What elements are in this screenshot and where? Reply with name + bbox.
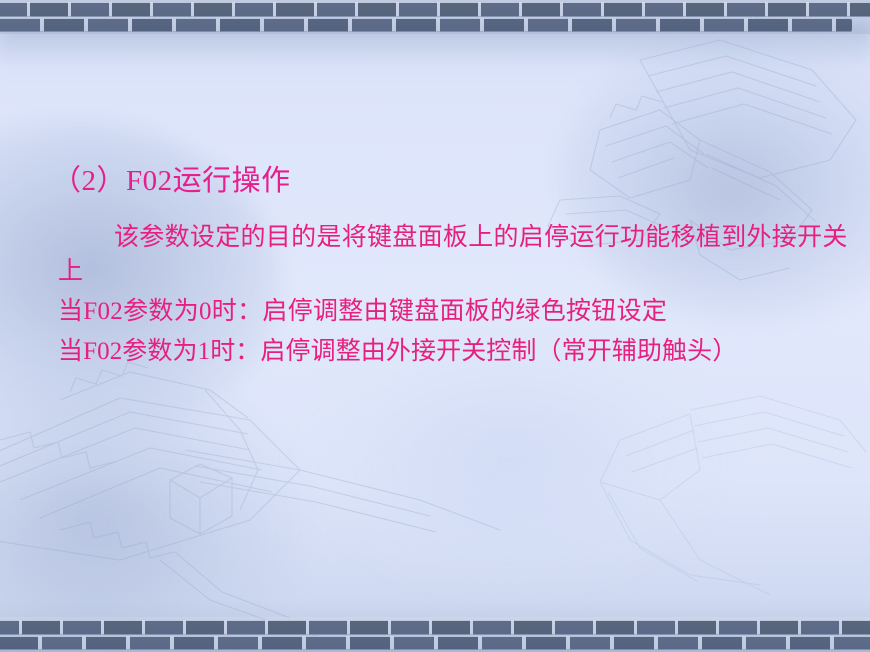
- presentation-slide: （2）F02运行操作 该参数设定的目的是将键盘面板上的启停运行功能移植到外接开关…: [0, 0, 870, 652]
- body-paragraph: 该参数设定的目的是将键盘面板上的启停运行功能移植到外接开关上: [58, 221, 864, 289]
- slide-title: （2）F02运行操作: [52, 164, 291, 198]
- slide-body: 该参数设定的目的是将键盘面板上的启停运行功能移植到外接开关上 当F02参数为0时…: [58, 221, 864, 369]
- slide-content: （2）F02运行操作 该参数设定的目的是将键盘面板上的启停运行功能移植到外接开关…: [0, 0, 870, 652]
- body-line-f02-one: 当F02参数为1时：启停调整由外接开关控制（常开辅助触头）: [58, 335, 864, 369]
- body-line-f02-zero: 当F02参数为0时：启停调整由键盘面板的绿色按钮设定: [58, 295, 864, 329]
